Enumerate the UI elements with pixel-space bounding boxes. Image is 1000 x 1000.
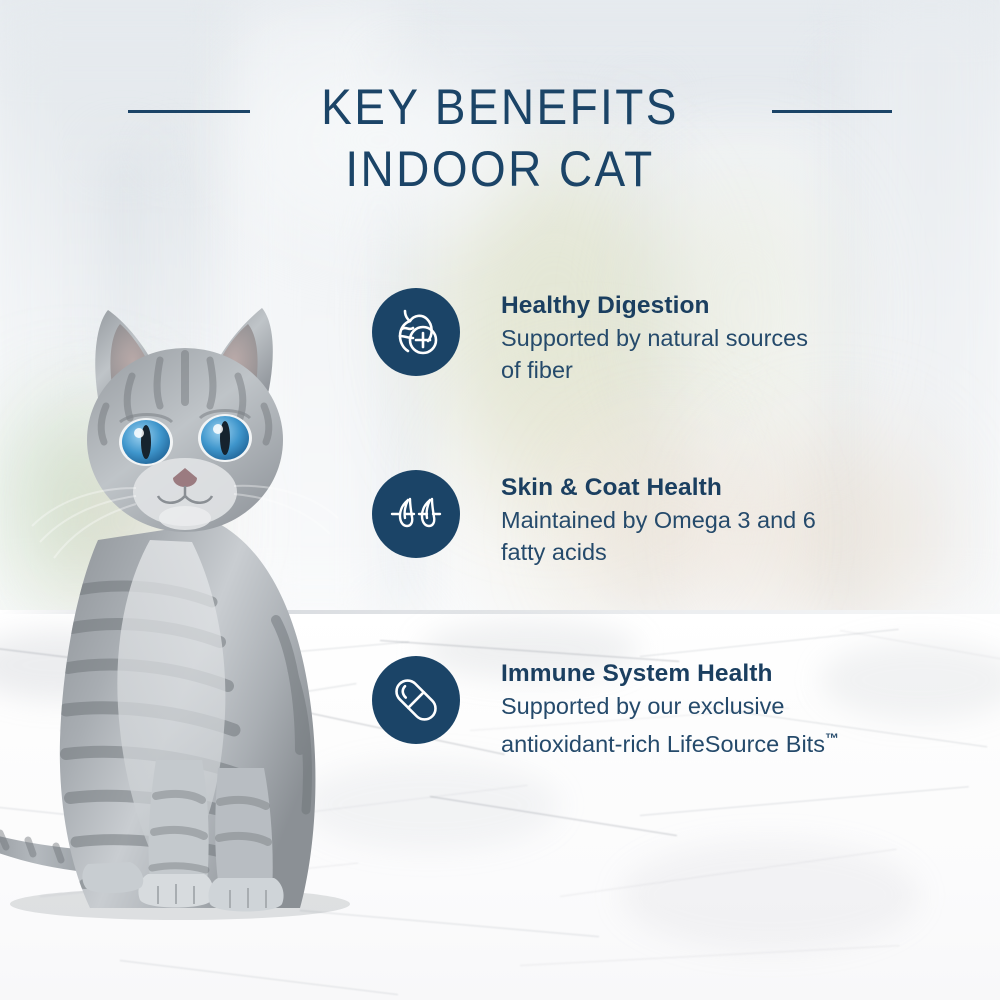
benefit-desc-line-1: Supported by natural sources xyxy=(501,325,808,351)
stomach-plus-icon xyxy=(388,304,444,360)
benefit-text-block: Healthy Digestion Supported by natural s… xyxy=(501,288,808,386)
benefit-title: Skin & Coat Health xyxy=(501,472,816,504)
benefit-title: Immune System Health xyxy=(501,658,839,690)
benefit-desc-line-1: Maintained by Omega 3 and 6 xyxy=(501,507,816,533)
decorative-rule-right xyxy=(772,110,892,113)
benefit-icon-badge xyxy=(372,288,460,376)
benefit-desc-line-1: Supported by our exclusive xyxy=(501,693,784,719)
benefit-text-block: Skin & Coat Health Maintained by Omega 3… xyxy=(501,470,816,568)
hair-follicle-icon xyxy=(388,486,444,542)
key-benefits-banner: KEY BENEFITS INDOOR CAT Healthy Digestio… xyxy=(0,0,1000,1000)
capsule-pill-icon xyxy=(388,672,444,728)
benefit-description: Supported by our exclusive antioxidant-r… xyxy=(501,690,839,760)
decorative-rule-left xyxy=(128,110,250,113)
benefit-desc-line-2: of fiber xyxy=(501,357,573,383)
benefit-icon-badge xyxy=(372,656,460,744)
benefit-desc-line-2: antioxidant-rich LifeSource Bits xyxy=(501,731,825,757)
benefit-desc-line-2: fatty acids xyxy=(501,539,607,565)
cat-photo xyxy=(0,290,400,950)
benefit-description: Supported by natural sources of fiber xyxy=(501,322,808,386)
benefit-icon-badge xyxy=(372,470,460,558)
trademark-symbol: ™ xyxy=(825,730,839,746)
benefit-skin-coat-health: Skin & Coat Health Maintained by Omega 3… xyxy=(372,470,816,568)
benefit-title: Healthy Digestion xyxy=(501,290,808,322)
benefit-healthy-digestion: Healthy Digestion Supported by natural s… xyxy=(372,288,808,386)
benefit-description: Maintained by Omega 3 and 6 fatty acids xyxy=(501,504,816,568)
benefit-text-block: Immune System Health Supported by our ex… xyxy=(501,656,839,760)
benefit-immune-system-health: Immune System Health Supported by our ex… xyxy=(372,656,839,760)
